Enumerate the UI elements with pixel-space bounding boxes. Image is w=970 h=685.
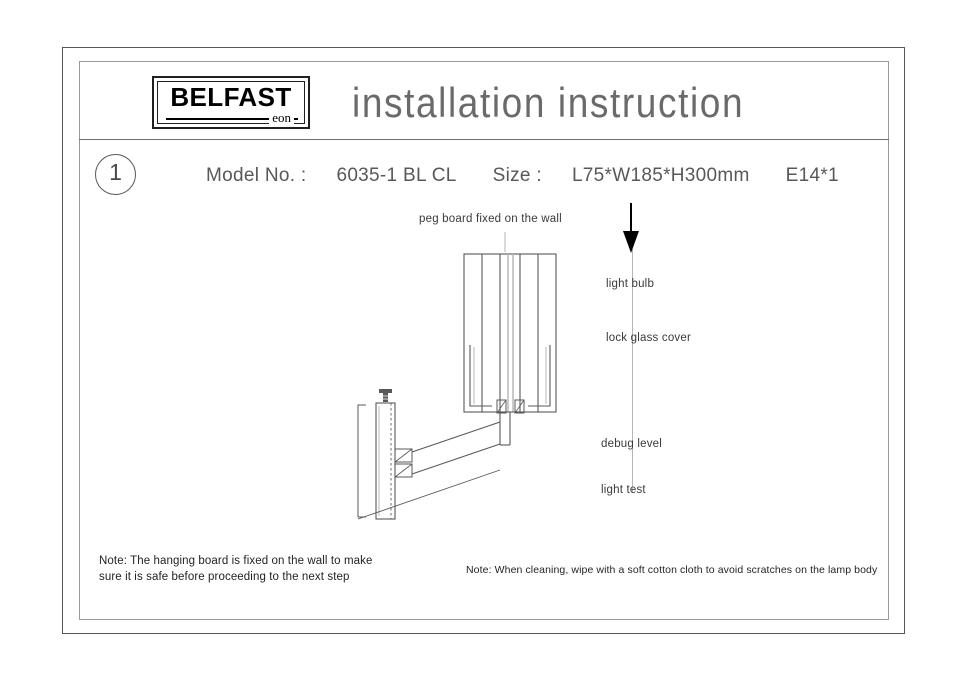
label-debug-level: debug level bbox=[601, 438, 662, 450]
size-label: Size : bbox=[493, 165, 542, 186]
step-number: 1 bbox=[96, 161, 135, 184]
logo-subbrand: eon bbox=[269, 111, 294, 125]
header-divider bbox=[79, 139, 889, 140]
down-arrow-head-icon bbox=[623, 231, 639, 253]
label-peg-board: peg board fixed on the wall bbox=[419, 213, 562, 225]
note-left-line1: Note: The hanging board is fixed on the … bbox=[99, 553, 419, 569]
label-light-bulb: light bulb bbox=[606, 278, 654, 290]
label-light-test: light test bbox=[601, 484, 646, 496]
inner-border bbox=[79, 61, 889, 620]
label-lock-glass-cover: lock glass cover bbox=[606, 332, 691, 344]
note-left-line2: sure it is safe before proceeding to the… bbox=[99, 569, 419, 585]
model-label: Model No. : bbox=[206, 165, 306, 186]
step-number-badge: 1 bbox=[95, 154, 136, 195]
page-title: installation instruction bbox=[352, 80, 744, 127]
size-value: L75*W185*H300mm bbox=[572, 165, 750, 186]
logo-wordmark: BELFAST bbox=[154, 84, 308, 110]
model-value: 6035-1 BL CL bbox=[336, 165, 456, 186]
note-left: Note: The hanging board is fixed on the … bbox=[99, 553, 419, 585]
brand-logo: BELFAST eon bbox=[152, 76, 310, 129]
socket-value: E14*1 bbox=[786, 165, 839, 186]
note-right: Note: When cleaning, wipe with a soft co… bbox=[466, 564, 877, 576]
spec-line: Model No. :6035-1 BL CLSize :L75*W185*H3… bbox=[206, 165, 839, 187]
